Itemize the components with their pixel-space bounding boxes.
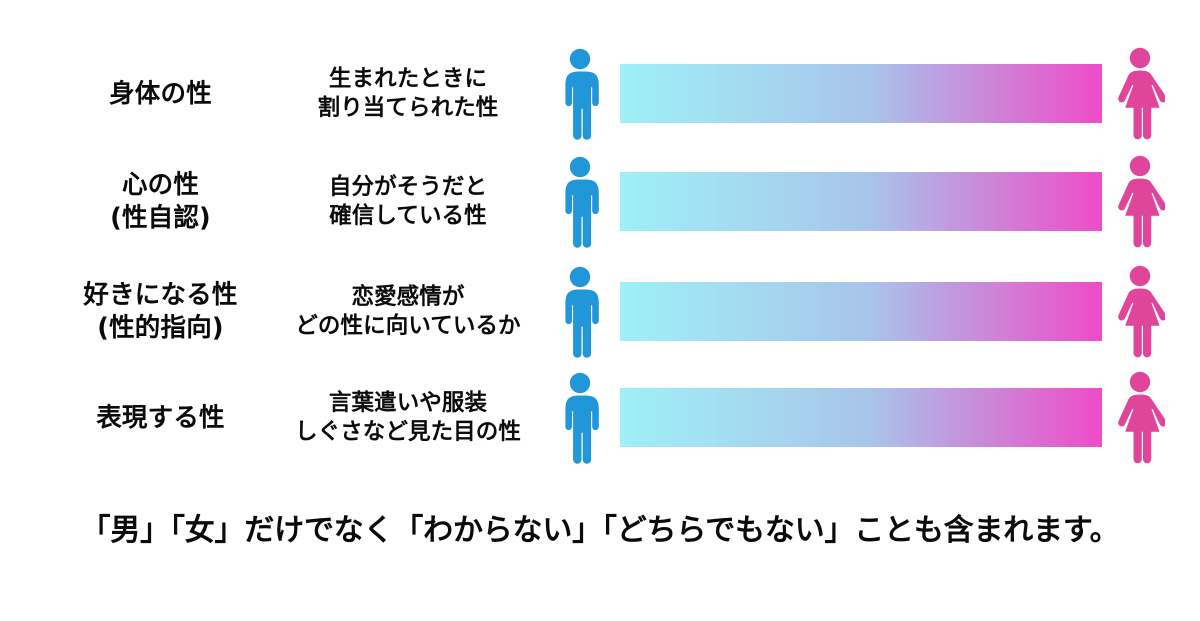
male-figure-icon — [552, 256, 608, 368]
row-description-line: 恋愛感情が — [351, 283, 464, 312]
gradient-fill — [620, 282, 1102, 341]
row-label-line: 身体の性 — [109, 78, 212, 111]
female-figure-icon — [1112, 256, 1168, 368]
female-figure-icon — [1112, 146, 1168, 258]
male-figure-icon — [552, 362, 608, 474]
gradient-spectrum-bar — [620, 172, 1102, 231]
spectrum-row: 身体の性 生まれたときに 割り当てられた性 — [0, 38, 1200, 150]
row-label-line: 好きになる性 — [83, 279, 237, 312]
row-label-line: (性自認) — [110, 202, 211, 235]
row-description-line: 割り当てられた性 — [318, 94, 499, 123]
spectrum-row: 心の性 (性自認) 自分がそうだと 確信している性 — [0, 146, 1200, 258]
row-description-sexual-orientation: 恋愛感情が どの性に向いているか — [258, 256, 558, 368]
gradient-spectrum-bar — [620, 282, 1102, 341]
row-description-line: しぐさなど見た目の性 — [295, 418, 521, 447]
row-label-line: (性的指向) — [97, 312, 224, 345]
row-description-body-sex: 生まれたときに 割り当てられた性 — [258, 38, 558, 150]
sogie-spectrum-infographic: 身体の性 生まれたときに 割り当てられた性 心の性 (性自認) — [0, 0, 1200, 621]
row-description-line: 生まれたときに — [329, 65, 487, 94]
female-figure-icon — [1112, 38, 1168, 150]
row-description-line: 言葉遣いや服装 — [329, 389, 487, 418]
row-label-line: 心の性 — [122, 169, 199, 202]
row-description-line: どの性に向いているか — [295, 312, 520, 341]
gradient-fill — [620, 388, 1102, 447]
row-description-gender-expression: 言葉遣いや服装 しぐさなど見た目の性 — [258, 362, 558, 474]
male-figure-icon — [552, 38, 608, 150]
gradient-fill — [620, 64, 1102, 123]
female-figure-icon — [1112, 362, 1168, 474]
gradient-spectrum-bar — [620, 64, 1102, 123]
gradient-fill — [620, 172, 1102, 231]
spectrum-row: 好きになる性 (性的指向) 恋愛感情が どの性に向いているか — [0, 256, 1200, 368]
spectrum-row: 表現する性 言葉遣いや服装 しぐさなど見た目の性 — [0, 362, 1200, 474]
row-description-gender-identity: 自分がそうだと 確信している性 — [258, 146, 558, 258]
gradient-spectrum-bar — [620, 388, 1102, 447]
male-figure-icon — [552, 146, 608, 258]
row-description-line: 自分がそうだと — [329, 173, 487, 202]
row-description-line: 確信している性 — [329, 202, 487, 231]
footer-caption: 「男」「女」だけでなく「わからない」「どちらでもない」ことも含まれます。 — [0, 512, 1200, 550]
row-label-line: 表現する性 — [96, 402, 225, 435]
